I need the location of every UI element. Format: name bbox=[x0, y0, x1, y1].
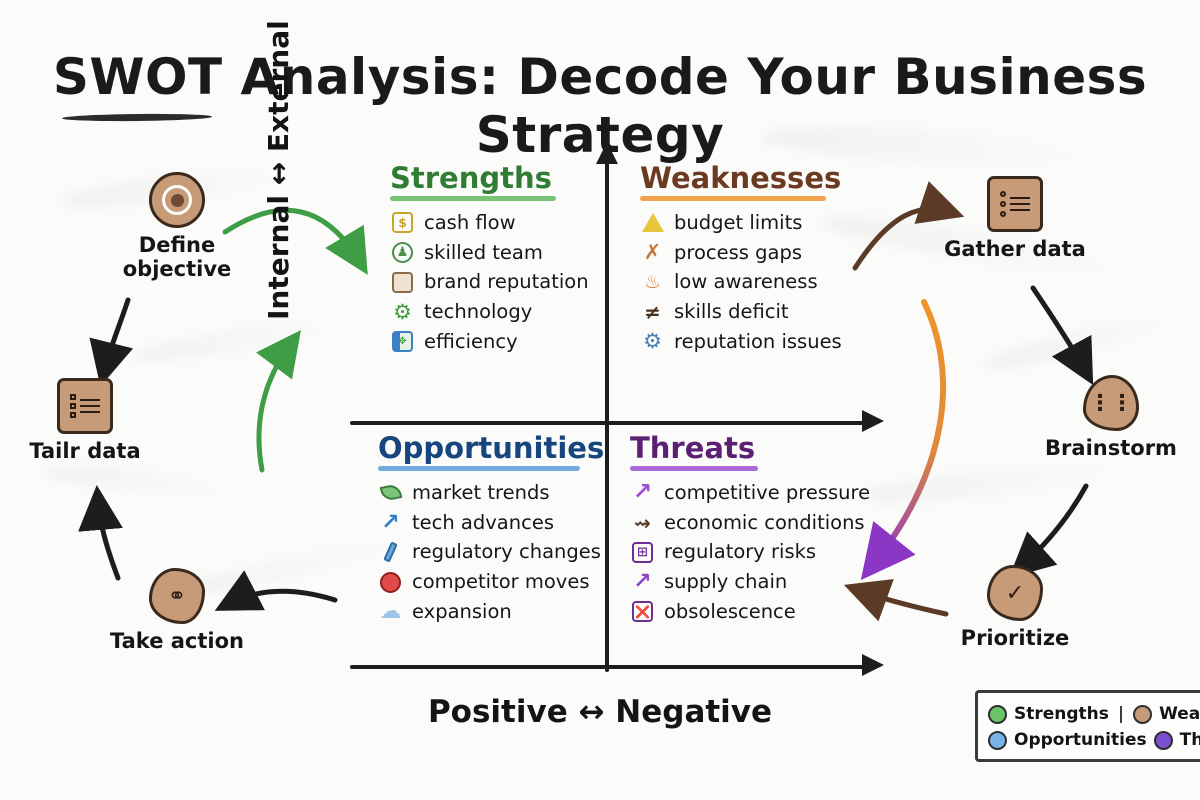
legend-dot-opportunities bbox=[988, 731, 1007, 750]
list-item: regulatory changes bbox=[378, 539, 606, 565]
quadrant-heading-threats: Threats bbox=[630, 434, 880, 463]
vertical-axis-caption: Internal ↔ External bbox=[262, 0, 295, 320]
crossed-box-icon: ❌ bbox=[630, 599, 655, 624]
warning-triangle-icon bbox=[640, 210, 665, 235]
quadrant-heading-opportunities: Opportunities bbox=[378, 434, 606, 463]
process-node-brainstorm[interactable]: ⋮⋮ Brainstorm bbox=[1026, 375, 1196, 461]
legend-row: Opportunities Thr bbox=[988, 727, 1200, 753]
cloud-icon: ☁ bbox=[378, 599, 403, 624]
item-label: process gaps bbox=[674, 240, 802, 266]
arrow-gather-to-brainstorm bbox=[1033, 288, 1086, 372]
quadrant-threats: Threats ↗ competitive pressure ⇝ economi… bbox=[630, 434, 880, 629]
legend-label-weaknesses: Weak bbox=[1159, 701, 1200, 727]
process-node-gather-data[interactable]: Gather data bbox=[930, 176, 1100, 262]
item-label: tech advances bbox=[412, 510, 554, 536]
legend-label-strengths: Strengths bbox=[1014, 701, 1109, 727]
list-item: ♟ skilled team bbox=[390, 240, 605, 266]
item-label: supply chain bbox=[664, 569, 787, 595]
item-label: budget limits bbox=[674, 210, 802, 236]
heading-underline-weaknesses bbox=[640, 196, 826, 201]
process-node-prioritize[interactable]: ✓ Prioritize bbox=[930, 565, 1100, 651]
shuffle-icon: ✗ bbox=[640, 240, 665, 265]
swot-diagram-canvas: SWOT Analysis: Decode Your Business Stra… bbox=[0, 0, 1200, 800]
node-label: Tailr data bbox=[0, 440, 170, 464]
item-label: efficiency bbox=[424, 329, 518, 355]
item-label: competitor moves bbox=[412, 569, 590, 595]
node-label: Take action bbox=[92, 630, 262, 654]
list-item: ✗ process gaps bbox=[640, 240, 880, 266]
item-label: technology bbox=[424, 299, 532, 325]
target-icon bbox=[149, 172, 205, 228]
check-blob-icon: ✓ bbox=[987, 565, 1043, 621]
background-smudge bbox=[859, 456, 1120, 509]
list-item: budget limits bbox=[640, 210, 880, 236]
list-item: ⚙ technology bbox=[390, 299, 605, 325]
axis-arrowhead-up bbox=[596, 142, 618, 164]
legend-row: Strengths | Weak bbox=[988, 701, 1200, 727]
list-item: ✥ efficiency bbox=[390, 329, 605, 355]
heading-underline-opportunities bbox=[378, 466, 580, 471]
list-item: ↗ supply chain bbox=[630, 569, 880, 595]
list-item: ≠ skills deficit bbox=[640, 299, 880, 325]
item-label: cash flow bbox=[424, 210, 516, 236]
clipboard-icon bbox=[390, 270, 415, 295]
legend-label-threats: Thr bbox=[1180, 727, 1200, 753]
quadrant-opportunities: Opportunities market trends ↗ tech advan… bbox=[378, 434, 606, 629]
legend-dot-weaknesses bbox=[1133, 705, 1152, 724]
arrow-up-right-icon: ↗ bbox=[630, 570, 655, 595]
item-label: expansion bbox=[412, 599, 512, 625]
item-label: reputation issues bbox=[674, 329, 842, 355]
broken-line-icon: ≠ bbox=[640, 300, 665, 325]
zigzag-icon: ⇝ bbox=[630, 510, 655, 535]
people-icon: ♟ bbox=[390, 240, 415, 265]
process-node-take-action[interactable]: ⚭ Take action bbox=[92, 568, 262, 654]
list-item: competitor moves bbox=[378, 569, 606, 595]
quadrant-weaknesses: Weaknesses budget limits ✗ process gaps … bbox=[640, 164, 880, 359]
node-label: Brainstorm bbox=[1026, 437, 1196, 461]
background-smudge bbox=[39, 460, 230, 502]
grid-square-icon: ⊞ bbox=[630, 540, 655, 565]
item-label: low awareness bbox=[674, 269, 818, 295]
book-icon: ✥ bbox=[390, 329, 415, 354]
legend-label-opportunities: Opportunities bbox=[1014, 727, 1147, 753]
megaphone-icon: ♨ bbox=[640, 270, 665, 295]
list-item: ☁ expansion bbox=[378, 599, 606, 625]
arrow-upward-green bbox=[259, 342, 292, 470]
list-item: ↗ competitive pressure bbox=[630, 480, 880, 506]
list-item: ♨ low awareness bbox=[640, 269, 880, 295]
arrow-weaknesses-to-threats bbox=[872, 302, 943, 566]
arrow-up-right-icon: ↗ bbox=[378, 510, 403, 535]
item-label: skilled team bbox=[424, 240, 543, 266]
item-label: regulatory risks bbox=[664, 539, 816, 565]
item-label: brand reputation bbox=[424, 269, 589, 295]
background-smudge bbox=[980, 306, 1180, 378]
node-label: Gather data bbox=[930, 238, 1100, 262]
item-label: economic conditions bbox=[664, 510, 865, 536]
axis-arrowhead-middle-right bbox=[862, 410, 884, 432]
horizontal-axis-middle bbox=[350, 421, 870, 425]
item-label: market trends bbox=[412, 480, 550, 506]
gear-icon: ⚙ bbox=[390, 300, 415, 325]
pen-icon bbox=[378, 540, 403, 565]
list-item: ❌ obsolescence bbox=[630, 599, 880, 625]
brain-icon: ⚭ bbox=[149, 568, 205, 624]
quadrant-heading-weaknesses: Weaknesses bbox=[640, 164, 880, 193]
gear-icon: ⚙ bbox=[640, 329, 665, 354]
dollar-icon: $ bbox=[390, 210, 415, 235]
item-label: competitive pressure bbox=[664, 480, 870, 506]
node-label: Prioritize bbox=[930, 627, 1100, 651]
leaf-icon bbox=[378, 480, 403, 505]
arrow-brainstorm-to-prioritize bbox=[1020, 486, 1086, 568]
list-item: market trends bbox=[378, 480, 606, 506]
legend: Strengths | Weak Opportunities Thr bbox=[975, 690, 1200, 762]
quadrant-heading-strengths: Strengths bbox=[390, 164, 605, 193]
node-label: Define objective bbox=[92, 234, 262, 281]
item-label: skills deficit bbox=[674, 299, 789, 325]
process-node-define-objective[interactable]: Define objective bbox=[92, 172, 262, 281]
arrow-take-action-to-tailor bbox=[98, 500, 118, 578]
list-item: $ cash flow bbox=[390, 210, 605, 236]
quadrant-strengths: Strengths $ cash flow ♟ skilled team bra… bbox=[390, 164, 605, 359]
item-label: regulatory changes bbox=[412, 539, 601, 565]
head-brain-icon: ⋮⋮ bbox=[1083, 375, 1139, 431]
list-item: ↗ tech advances bbox=[378, 510, 606, 536]
legend-dot-threats bbox=[1154, 731, 1173, 750]
legend-dot-strengths bbox=[988, 705, 1007, 724]
heading-underline-threats bbox=[630, 466, 758, 471]
legend-separator: | bbox=[1116, 701, 1126, 727]
clipboard-checklist-icon bbox=[987, 176, 1043, 232]
process-node-tailor-data[interactable]: Tailr data bbox=[0, 378, 170, 464]
item-label: obsolescence bbox=[664, 599, 796, 625]
horizontal-axis-bottom bbox=[350, 665, 870, 669]
background-smudge bbox=[130, 314, 341, 369]
heading-underline-strengths bbox=[390, 196, 556, 201]
list-item: ⚙ reputation issues bbox=[640, 329, 880, 355]
arrow-define-to-tailor bbox=[104, 300, 128, 372]
axis-arrowhead-bottom-right bbox=[862, 654, 884, 676]
red-circle-icon bbox=[378, 570, 403, 595]
list-item: brand reputation bbox=[390, 269, 605, 295]
arrow-up-right-icon: ↗ bbox=[630, 480, 655, 505]
list-item: ⊞ regulatory risks bbox=[630, 539, 880, 565]
document-checklist-icon bbox=[57, 378, 113, 434]
list-item: ⇝ economic conditions bbox=[630, 510, 880, 536]
